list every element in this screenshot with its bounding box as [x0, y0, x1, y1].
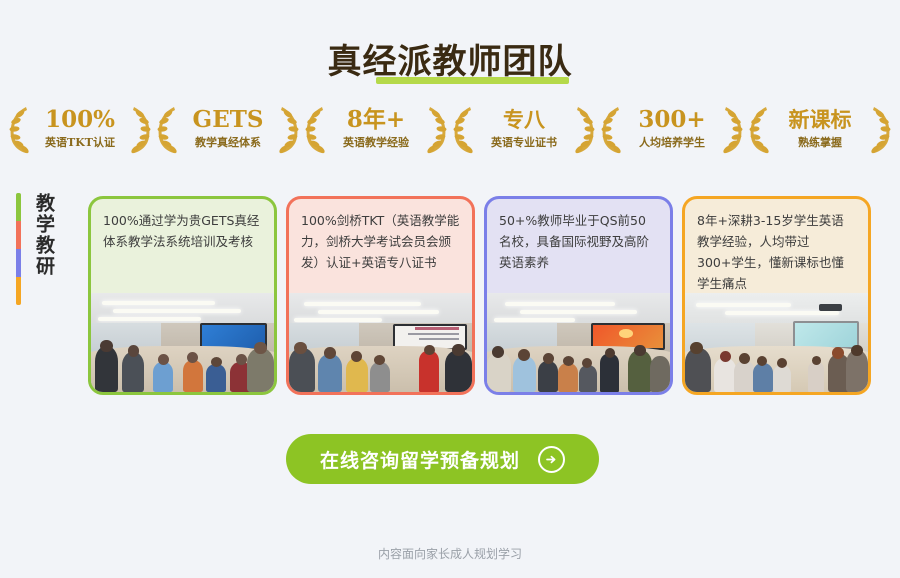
section-color-bar	[16, 193, 21, 305]
feature-card-text: 8年+深耕3-15岁学生英语教学经验，人均带过300+学生，懂新课标也懂学生痛点	[685, 199, 868, 293]
badge-text: 8年+ 英语教学经验	[329, 107, 423, 151]
feature-card-text: 50+%教师毕业于QS前50名校，具备国际视野及高阶英语素养	[487, 199, 670, 293]
meeting-presentation-photo	[289, 293, 472, 392]
badge-headline: 100%	[45, 106, 115, 133]
page-title-text: 真经派教师团队	[328, 42, 573, 82]
laurel-right-icon	[128, 103, 154, 155]
laurel-left-icon	[450, 103, 476, 155]
badge-item: 新课标 熟练掌握	[746, 103, 894, 155]
badge-headline: GETS	[193, 106, 264, 133]
laurel-left-icon	[746, 103, 772, 155]
color-bar-segment-green	[16, 193, 21, 221]
section-side-label-text: 教学教研	[30, 193, 58, 305]
laurel-right-icon	[276, 103, 302, 155]
page-title: 真经派教师团队	[324, 34, 577, 85]
laurel-left-icon	[154, 103, 180, 155]
feature-card-tkt-certification[interactable]: 100%剑桥TKT（英语教学能力，剑桥大学考试会员会颁发）认证+英语专八证书	[286, 196, 475, 395]
badge-caption: 人均培养学生	[639, 136, 705, 149]
badge-item: 8年+ 英语教学经验	[302, 103, 450, 155]
feature-card-text: 100%剑桥TKT（英语教学能力，剑桥大学考试会员会颁发）认证+英语专八证书	[289, 199, 472, 293]
badge-text: 100% 英语TKT认证	[33, 107, 127, 151]
badge-caption: 教学真经体系	[195, 136, 261, 149]
seminar-room-photo	[685, 293, 868, 392]
badge-text: 专八 英语专业证书	[477, 107, 571, 151]
page-title-wrap: 真经派教师团队	[0, 34, 900, 85]
laurel-left-icon	[598, 103, 624, 155]
feature-card-text: 100%通过学为贵GETS真经体系教学法系统培训及考核	[91, 199, 274, 293]
badge-item: 100% 英语TKT认证	[6, 103, 154, 155]
badge-item: 专八 英语专业证书	[450, 103, 598, 155]
badge-headline: 300+	[638, 106, 705, 133]
consult-cta-label: 在线咨询留学预备规划	[320, 446, 520, 473]
badge-item: GETS 教学真经体系	[154, 103, 302, 155]
badge-headline: 专八	[503, 107, 545, 132]
arrow-right-circle-icon	[538, 446, 565, 473]
badge-item: 300+ 人均培养学生	[598, 103, 746, 155]
badge-caption: 熟练掌握	[798, 136, 842, 149]
badge-text: 新课标 熟练掌握	[773, 107, 867, 151]
consult-cta-button[interactable]: 在线咨询留学预备规划	[286, 434, 599, 484]
footer-note: 内容面向家长成人规划学习	[0, 545, 900, 562]
laurel-right-icon	[424, 103, 450, 155]
badge-headline: 新课标	[789, 107, 852, 132]
feature-card-list: 100%通过学为贵GETS真经体系教学法系统培训及考核	[88, 196, 888, 395]
feature-card-teaching-method[interactable]: 100%通过学为贵GETS真经体系教学法系统培训及考核	[88, 196, 277, 395]
training-room-photo	[91, 293, 274, 392]
badge-caption: 英语教学经验	[343, 136, 409, 149]
badge-text: 300+ 人均培养学生	[625, 107, 719, 151]
laurel-right-icon	[720, 103, 746, 155]
lecture-room-photo	[487, 293, 670, 392]
section-side-label: 教学教研	[16, 193, 58, 305]
badge-caption: 英语专业证书	[491, 136, 557, 149]
badge-text: GETS 教学真经体系	[181, 107, 275, 151]
laurel-right-icon	[572, 103, 598, 155]
landing-page: 真经派教师团队 100%	[0, 0, 900, 578]
laurel-right-icon	[868, 103, 894, 155]
badge-headline: 8年+	[347, 106, 405, 133]
badge-caption: 英语TKT认证	[45, 136, 115, 149]
feature-card-qs-graduates[interactable]: 50+%教师毕业于QS前50名校，具备国际视野及高阶英语素养	[484, 196, 673, 395]
color-bar-segment-orange	[16, 277, 21, 305]
color-bar-segment-purple	[16, 249, 21, 277]
laurel-left-icon	[6, 103, 32, 155]
feature-card-teaching-experience[interactable]: 8年+深耕3-15岁学生英语教学经验，人均带过300+学生，懂新课标也懂学生痛点	[682, 196, 871, 395]
color-bar-segment-red	[16, 221, 21, 249]
badge-row: 100% 英语TKT认证	[0, 103, 900, 155]
laurel-left-icon	[302, 103, 328, 155]
